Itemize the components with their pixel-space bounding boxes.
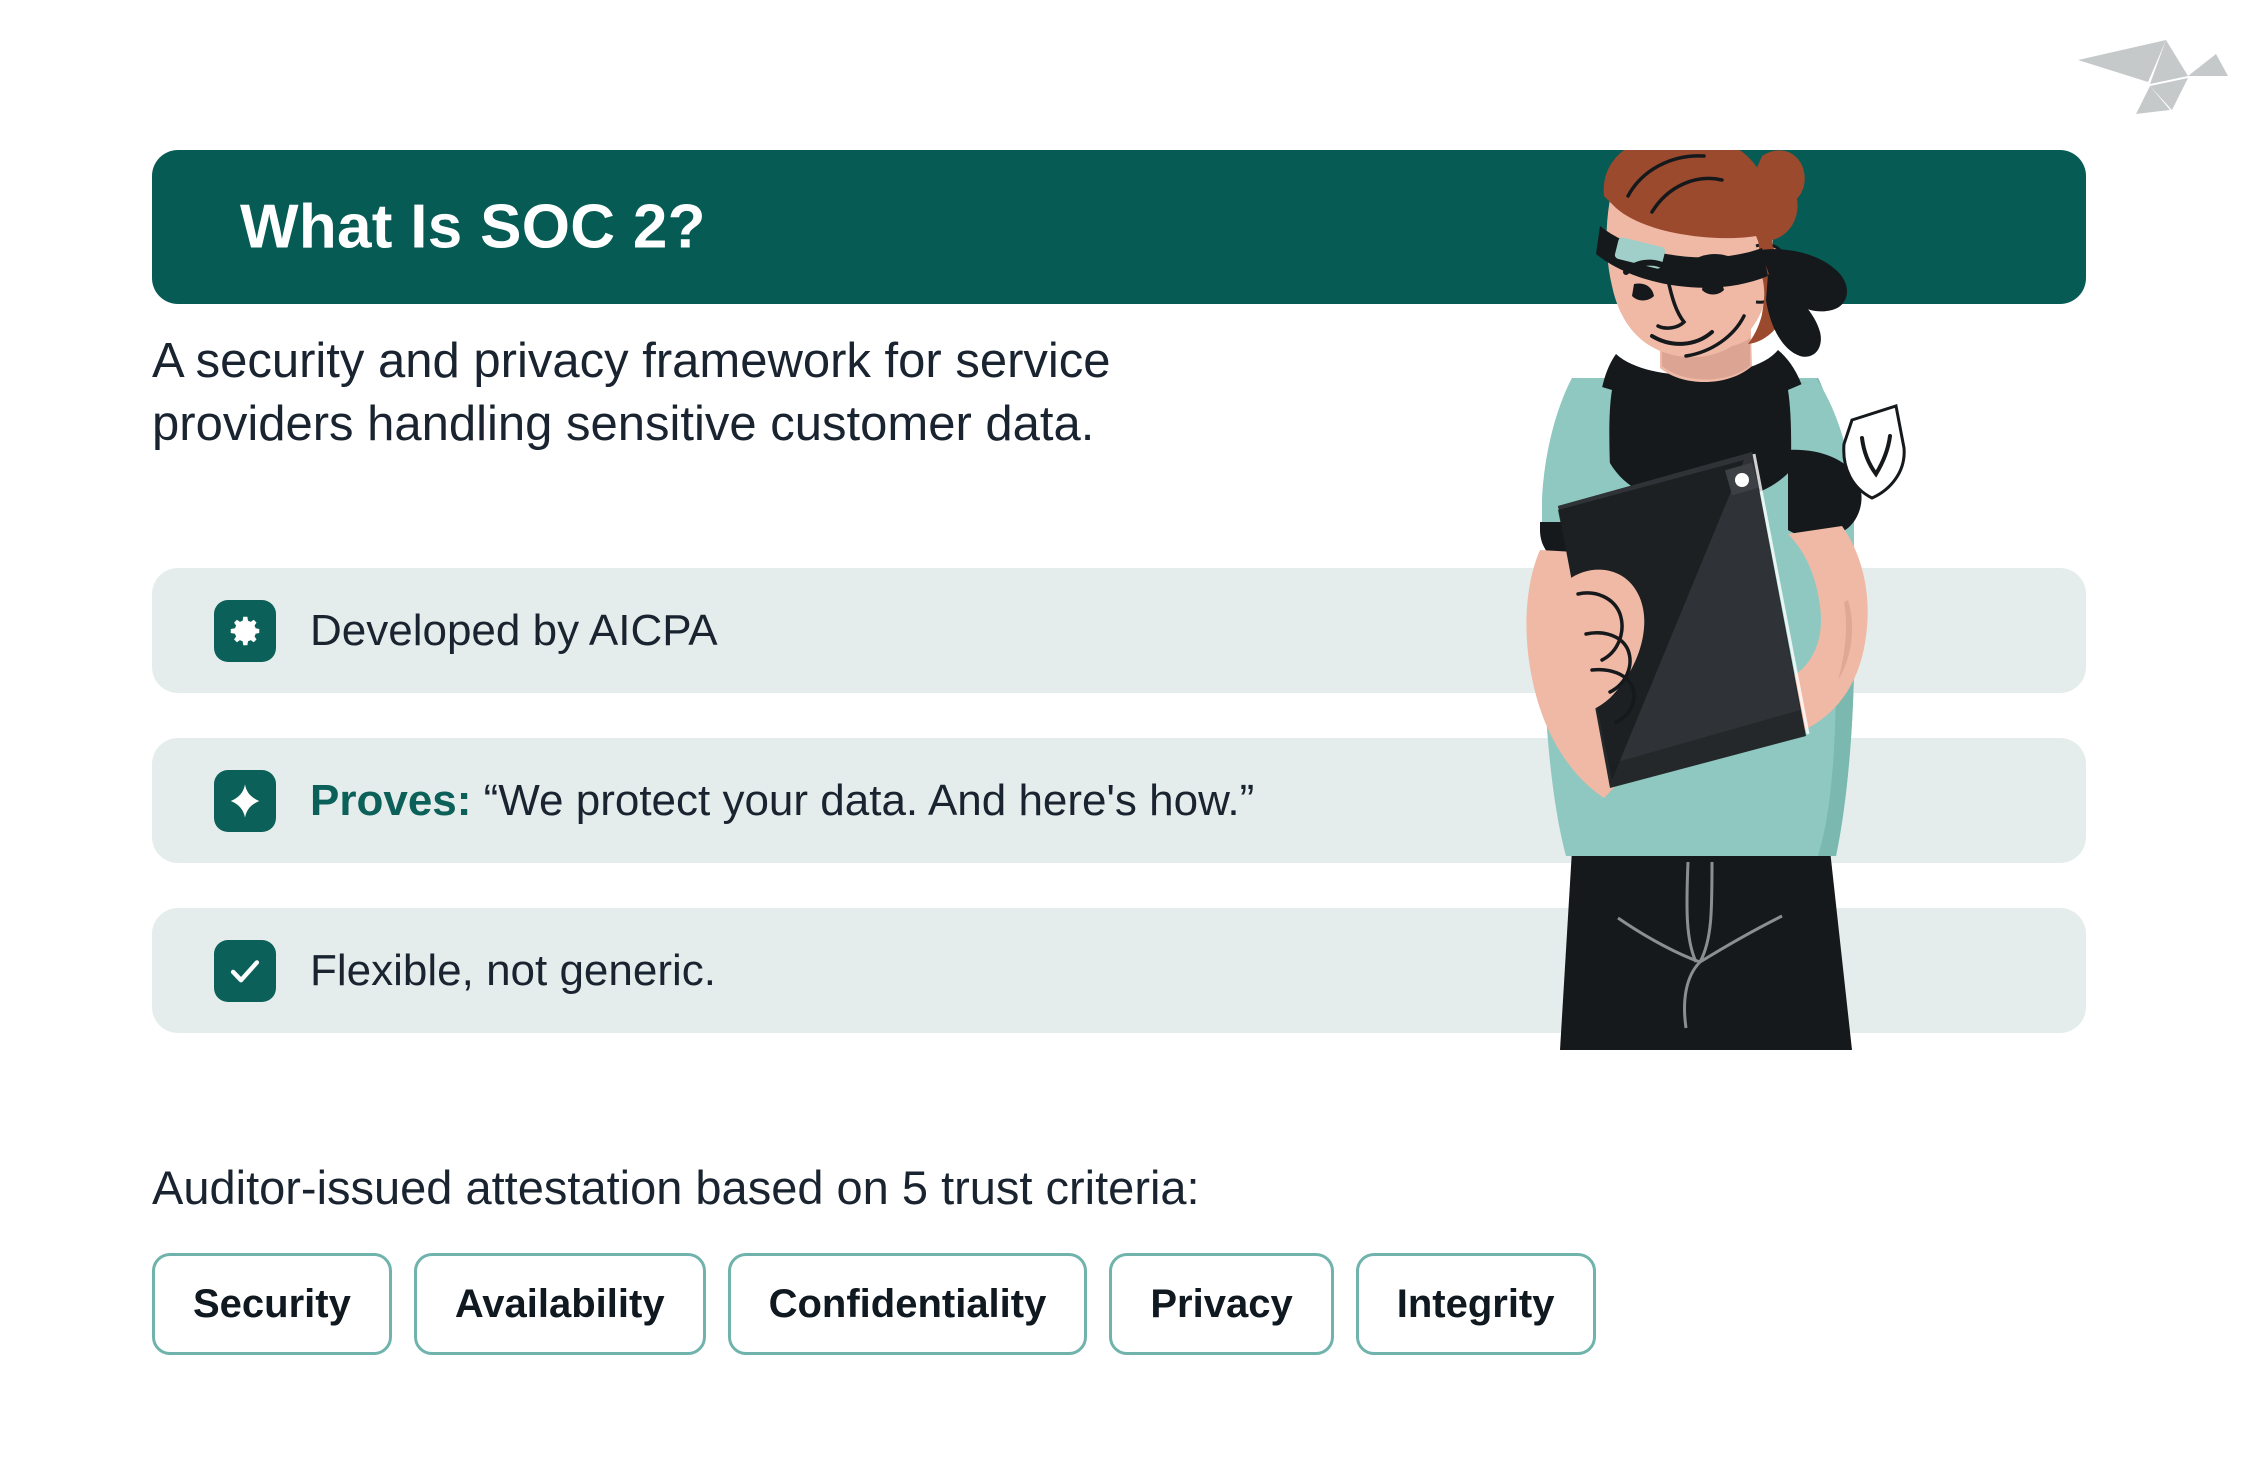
- attestation-label: Auditor-issued attestation based on 5 tr…: [152, 1160, 1200, 1215]
- feature-card-text: Flexible, not generic.: [310, 949, 716, 993]
- gear-icon: [214, 600, 276, 662]
- feature-card: Proves: “We protect your data. And here'…: [152, 738, 2086, 863]
- infographic-canvas: What Is SOC 2? A security and privacy fr…: [0, 0, 2250, 1464]
- page-title: What Is SOC 2?: [240, 192, 706, 263]
- criteria-pill-security[interactable]: Security: [152, 1253, 392, 1355]
- criteria-pill-confidentiality[interactable]: Confidentiality: [728, 1253, 1088, 1355]
- feature-card-text: Proves: “We protect your data. And here'…: [310, 779, 1254, 823]
- sparkle-icon: [214, 770, 276, 832]
- check-icon: [214, 940, 276, 1002]
- feature-card-body: “We protect your data. And here's how.”: [484, 776, 1255, 825]
- intro-paragraph: A security and privacy framework for ser…: [152, 330, 1272, 455]
- criteria-pill-availability[interactable]: Availability: [414, 1253, 706, 1355]
- criteria-pill-integrity[interactable]: Integrity: [1356, 1253, 1596, 1355]
- feature-card-lead: Proves:: [310, 776, 484, 825]
- header-band: What Is SOC 2?: [152, 150, 2086, 304]
- feature-card: Flexible, not generic.: [152, 908, 2086, 1033]
- feature-card-body: Developed by AICPA: [310, 606, 718, 655]
- feature-card-text: Developed by AICPA: [310, 609, 718, 653]
- feature-card: Developed by AICPA: [152, 568, 2086, 693]
- feature-card-body: Flexible, not generic.: [310, 946, 716, 995]
- trust-criteria-list: Security Availability Confidentiality Pr…: [152, 1253, 1596, 1355]
- origami-bird-logo: [2068, 14, 2236, 114]
- criteria-pill-privacy[interactable]: Privacy: [1109, 1253, 1333, 1355]
